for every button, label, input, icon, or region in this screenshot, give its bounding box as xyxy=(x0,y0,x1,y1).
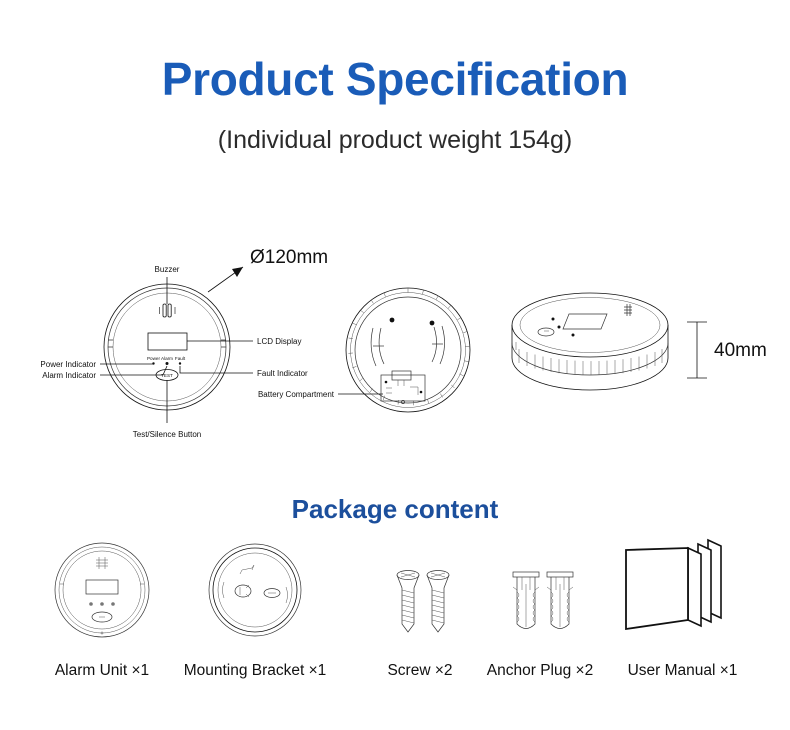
smoke-alarm-front-icon xyxy=(27,532,177,652)
user-manual-icon xyxy=(600,532,750,652)
callout-alarm-indicator: Alarm Indicator xyxy=(42,371,96,380)
diameter-label: Ø120mm xyxy=(250,247,328,268)
callout-leaders: Buzzer LCD Display Power Indicator Alarm… xyxy=(40,265,383,439)
callout-buzzer: Buzzer xyxy=(155,265,180,274)
device-iso-view xyxy=(512,293,668,390)
package-label-mounting-bracket: Mounting Bracket ×1 xyxy=(180,662,330,680)
package-label-alarm-unit: Alarm Unit ×1 xyxy=(27,662,177,680)
package-item-anchor-plug xyxy=(465,532,615,652)
callout-battery-compartment: Battery Compartment xyxy=(258,390,335,399)
face-label-power: Power xyxy=(147,356,160,361)
lcd-display-rect xyxy=(148,333,187,350)
callout-fault-indicator: Fault Indicator xyxy=(257,369,308,378)
anchor-plug-icon xyxy=(465,532,615,652)
height-label: 40mm xyxy=(714,340,767,361)
face-label-test: TEST xyxy=(161,373,173,378)
diameter-dimension: Ø120mm xyxy=(208,247,328,292)
callout-power-indicator: Power Indicator xyxy=(40,360,96,369)
package-label-anchor-plug: Anchor Plug ×2 xyxy=(465,662,615,680)
iso-lcd-display xyxy=(563,314,607,329)
page-title: Product Specification xyxy=(0,52,790,106)
package-item-mounting-bracket xyxy=(180,532,330,652)
package-content-heading: Package content xyxy=(0,494,790,525)
specification-diagram: Power Alarm Fault TEST Buzzer LCD Displa… xyxy=(0,230,790,470)
mounting-bracket-icon xyxy=(180,532,330,652)
package-item-user-manual xyxy=(600,532,750,652)
package-item-alarm-unit xyxy=(27,532,177,652)
iso-buzzer-grille xyxy=(624,304,632,316)
package-content-items xyxy=(0,532,790,662)
buzzer-grille-icon xyxy=(160,304,176,317)
callout-test-silence-button: Test/Silence Button xyxy=(133,430,201,439)
callout-lcd-display: LCD Display xyxy=(257,337,301,346)
face-label-alarm: Alarm xyxy=(161,356,173,361)
package-content-labels: Alarm Unit ×1 Mounting Bracket ×1 Screw … xyxy=(0,662,790,692)
height-dimension: 40mm xyxy=(687,322,767,378)
iso-test-button xyxy=(538,328,554,336)
page-subtitle: (Individual product weight 154g) xyxy=(0,126,790,155)
device-back-view xyxy=(346,288,470,412)
face-label-fault: Fault xyxy=(175,356,186,361)
package-label-user-manual: User Manual ×1 xyxy=(600,662,765,680)
